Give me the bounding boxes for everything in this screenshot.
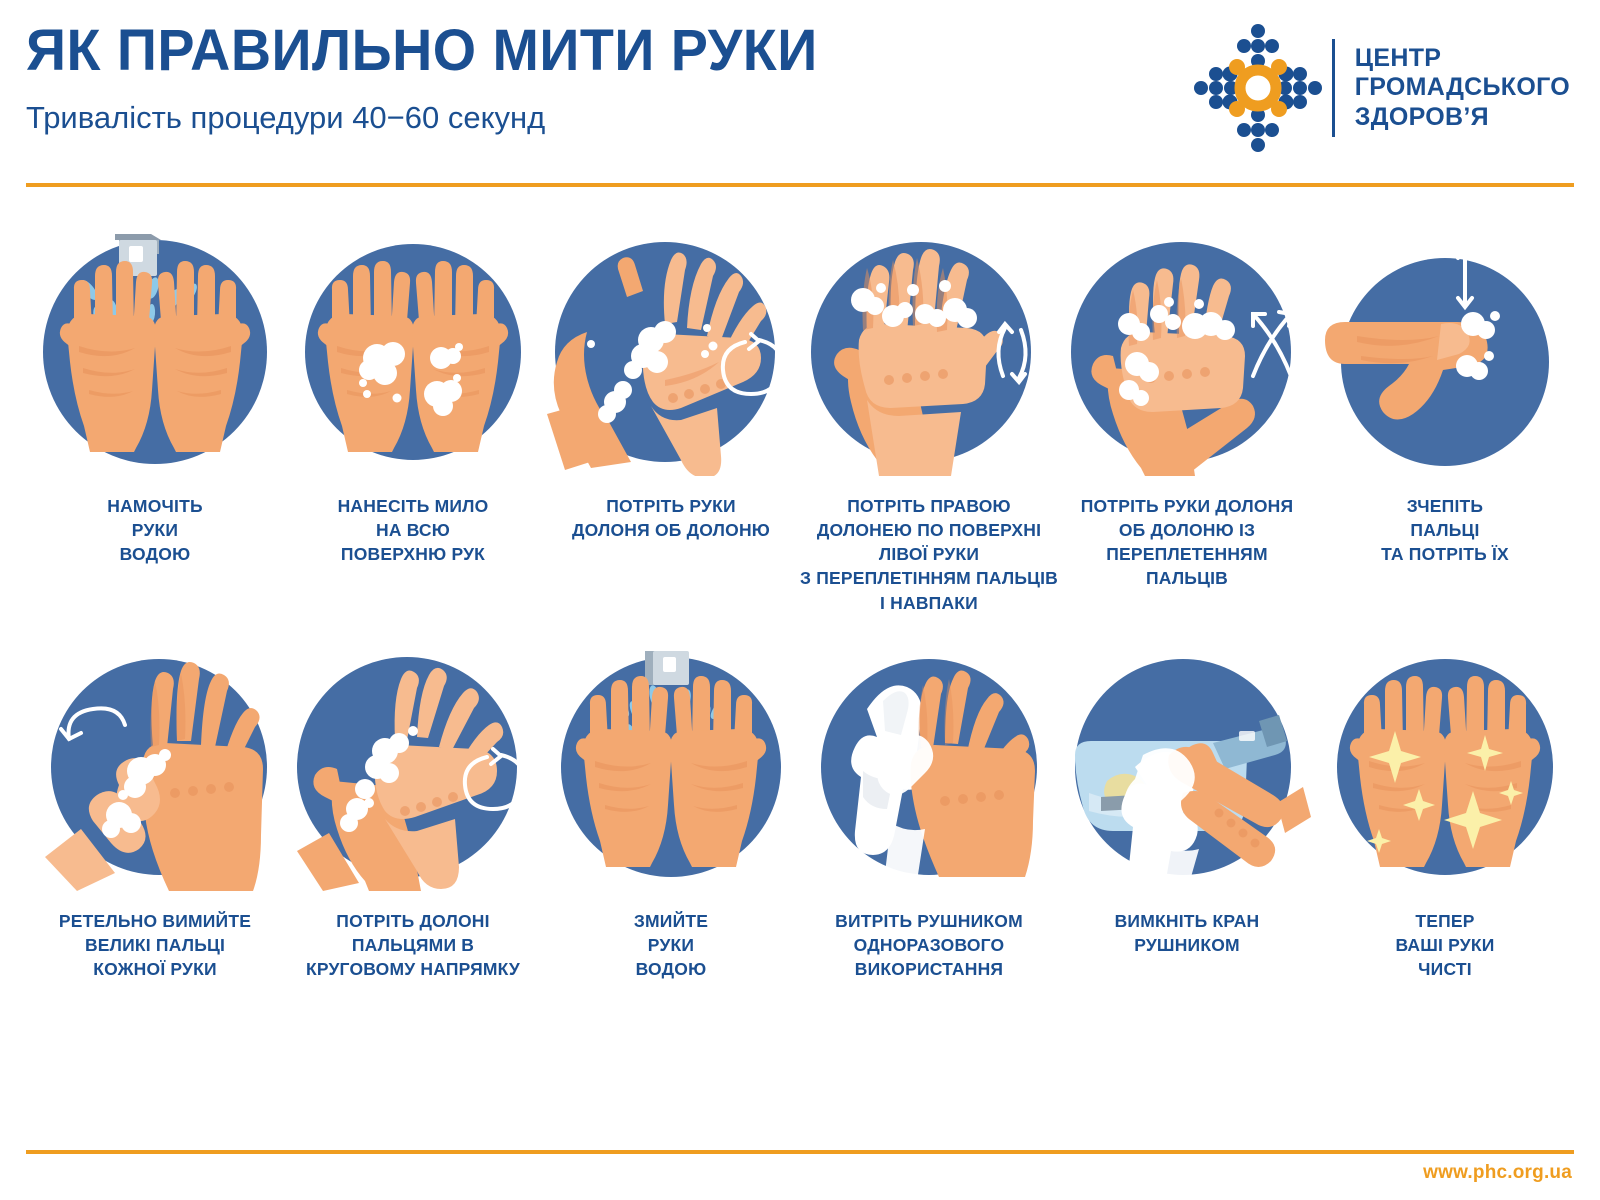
step-11-caption: ВИМКНІТЬ КРАН РУШНИКОМ	[1115, 909, 1260, 957]
logo-divider	[1332, 39, 1335, 137]
step-7: РЕТЕЛЬНО ВИМИЙТЕ ВЕЛИКІ ПАЛЬЦІ КОЖНОЇ РУ…	[26, 643, 284, 981]
logo-line-2: ГРОМАДСЬКОГО	[1355, 73, 1570, 103]
step-10-caption: ВИТРІТЬ РУШНИКОМ ОДНОРАЗОВОГО ВИКОРИСТАН…	[835, 909, 1023, 981]
step-1: НАМОЧІТЬ РУКИ ВОДОЮ	[26, 228, 284, 615]
step-10: ВИТРІТЬ РУШНИКОМ ОДНОРАЗОВОГО ВИКОРИСТАН…	[800, 643, 1058, 981]
footer-divider-rule	[26, 1150, 1574, 1154]
step-12: ТЕПЕР ВАШІ РУКИ ЧИСТІ	[1316, 643, 1574, 981]
step-5: ПОТРІТЬ РУКИ ДОЛОНЯ ОБ ДОЛОНЮ ІЗ ПЕРЕПЛЕ…	[1058, 228, 1316, 615]
step-9: ЗМИЙТЕ РУКИ ВОДОЮ	[542, 643, 800, 981]
fingertips-circular-rub-icon	[289, 643, 537, 891]
step-7-caption: РЕТЕЛЬНО ВИМИЙТЕ ВЕЛИКІ ПАЛЬЦІ КОЖНОЇ РУ…	[59, 909, 251, 981]
thumb-rotational-rub-icon	[31, 643, 279, 891]
step-8: ПОТРІТЬ ДОЛОНІ ПАЛЬЦЯМИ В КРУГОВОМУ НАПР…	[284, 643, 542, 981]
step-4-caption: ПОТРІТЬ ПРАВОЮ ДОЛОНЕЮ ПО ПОВЕРХНІ ЛІВОЇ…	[800, 494, 1058, 615]
step-12-caption: ТЕПЕР ВАШІ РУКИ ЧИСТІ	[1395, 909, 1494, 981]
palm-to-palm-rub-icon	[547, 228, 795, 476]
logo-wordmark: ЦЕНТР ГРОМАДСЬКОГО ЗДОРОВ’Я	[1355, 44, 1570, 133]
step-1-caption: НАМОЧІТЬ РУКИ ВОДОЮ	[107, 494, 203, 566]
step-3: ПОТРІТЬ РУКИ ДОЛОНЯ ОБ ДОЛОНЮ	[542, 228, 800, 615]
phc-logo: ЦЕНТР ГРОМАДСЬКОГО ЗДОРОВ’Я	[1192, 0, 1600, 154]
step-4: ПОТРІТЬ ПРАВОЮ ДОЛОНЕЮ ПО ПОВЕРХНІ ЛІВОЇ…	[800, 228, 1058, 615]
palm-over-back-interlaced-icon	[805, 228, 1053, 476]
step-6: ЗЧЕПІТЬ ПАЛЬЦІ ТА ПОТРІТЬ ЇХ	[1316, 228, 1574, 615]
rinse-hands-water-icon	[547, 643, 795, 891]
step-2: НАНЕСІТЬ МИЛО НА ВСЮ ПОВЕРХНЮ РУК	[284, 228, 542, 615]
page-title: ЯК ПРАВИЛЬНО МИТИ РУКИ	[26, 22, 818, 80]
palm-to-palm-fingers-interlaced-icon	[1063, 228, 1311, 476]
hands-with-soap-foam-icon	[289, 228, 537, 476]
footer-website-url[interactable]: www.phc.org.ua	[1423, 1162, 1572, 1184]
close-tap-with-towel-icon	[1063, 643, 1311, 891]
page-header: ЯК ПРАВИЛЬНО МИТИ РУКИ Тривалість процед…	[0, 0, 1600, 183]
clean-sparkling-hands-icon	[1321, 643, 1569, 891]
hands-under-faucet-icon	[31, 228, 279, 476]
logo-line-3: ЗДОРОВ’Я	[1355, 103, 1570, 133]
step-9-caption: ЗМИЙТЕ РУКИ ВОДОЮ	[634, 909, 708, 981]
step-2-caption: НАНЕСІТЬ МИЛО НА ВСЮ ПОВЕРХНЮ РУК	[338, 494, 489, 566]
dry-with-paper-towel-icon	[805, 643, 1053, 891]
interlocked-fingers-rub-icon	[1321, 228, 1569, 476]
step-11: ВИМКНІТЬ КРАН РУШНИКОМ	[1058, 643, 1316, 981]
step-3-caption: ПОТРІТЬ РУКИ ДОЛОНЯ ОБ ДОЛОНЮ	[572, 494, 770, 542]
step-8-caption: ПОТРІТЬ ДОЛОНІ ПАЛЬЦЯМИ В КРУГОВОМУ НАПР…	[306, 909, 520, 981]
steps-grid: НАМОЧІТЬ РУКИ ВОДОЮ	[26, 228, 1574, 981]
page-subtitle: Тривалість процедури 40−60 секунд	[26, 100, 851, 136]
logo-line-1: ЦЕНТР	[1355, 44, 1570, 74]
header-text-block: ЯК ПРАВИЛЬНО МИТИ РУКИ Тривалість процед…	[0, 0, 851, 136]
step-6-caption: ЗЧЕПІТЬ ПАЛЬЦІ ТА ПОТРІТЬ ЇХ	[1381, 494, 1509, 566]
step-5-caption: ПОТРІТЬ РУКИ ДОЛОНЯ ОБ ДОЛОНЮ ІЗ ПЕРЕПЛЕ…	[1081, 494, 1294, 591]
header-divider-rule	[26, 183, 1574, 187]
phc-logo-dots-icon	[1192, 22, 1324, 154]
